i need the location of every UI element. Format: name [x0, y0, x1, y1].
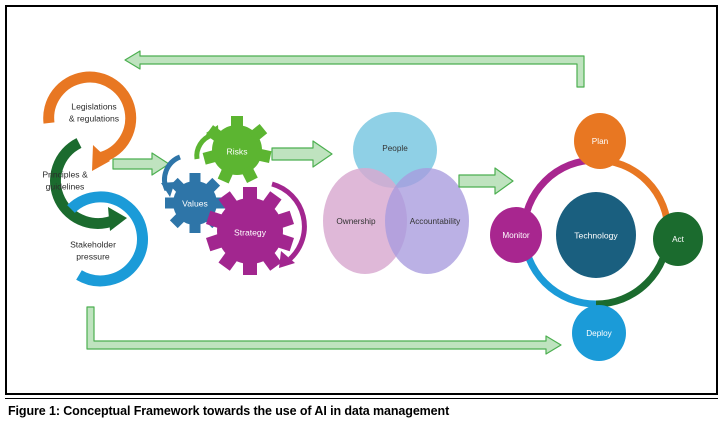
gear-strategy: Strategy — [206, 187, 294, 275]
lifecycle-label-deploy: Deploy — [586, 329, 612, 338]
figure-frame: Legislations & regulations Principles & … — [5, 5, 718, 395]
venn-diagram: People Ownership Accountability — [323, 112, 469, 274]
caption-divider — [5, 398, 718, 399]
figure-page: Legislations & regulations Principles & … — [0, 0, 726, 432]
gear-label-values: Values — [182, 198, 208, 208]
lifecycle-node-plan: Plan — [574, 113, 626, 169]
driver-arc-stakeholder: Stakeholder pressure — [70, 197, 142, 281]
gear-label-strategy: Strategy — [234, 227, 267, 237]
gear-label-risks: Risks — [226, 146, 247, 156]
flow-arrow-lifecycle-feedback-top — [125, 51, 584, 87]
flow-arrow-drivers-to-gears — [113, 153, 169, 175]
gear-risks: Risks — [203, 116, 272, 184]
venn-label-accountability: Accountability — [410, 217, 461, 226]
lifecycle-node-monitor: Monitor — [490, 207, 542, 263]
flow-arrow-lifecycle-feedback-bottom — [87, 307, 561, 354]
lifecycle-node-deploy: Deploy — [572, 305, 626, 361]
figure-caption: Figure 1: Conceptual Framework towards t… — [8, 404, 718, 418]
driver-label-stakeholder-line1: Stakeholder — [70, 239, 116, 249]
lifecycle-label-plan: Plan — [592, 137, 609, 146]
driver-label-legislations-line2: & regulations — [69, 113, 119, 123]
lifecycle-node-act: Act — [653, 212, 703, 266]
lifecycle-label-monitor: Monitor — [502, 231, 530, 240]
lifecycle-label-act: Act — [672, 235, 685, 244]
flow-arrow-venn-to-lifecycle — [459, 168, 513, 194]
driver-label-principles-line1: Principles & — [42, 169, 88, 179]
driver-label-stakeholder-line2: pressure — [76, 251, 110, 261]
conceptual-framework-diagram: Legislations & regulations Principles & … — [7, 7, 716, 393]
lifecycle-label-technology: Technology — [574, 230, 618, 240]
venn-label-people: People — [382, 144, 408, 153]
flow-arrow-gears-to-venn — [272, 141, 332, 167]
driver-label-principles-line2: guidelines — [46, 181, 85, 191]
lifecycle-center-technology: Technology — [556, 192, 636, 278]
driver-label-legislations-line1: Legislations — [71, 101, 116, 111]
venn-label-ownership: Ownership — [336, 217, 376, 226]
